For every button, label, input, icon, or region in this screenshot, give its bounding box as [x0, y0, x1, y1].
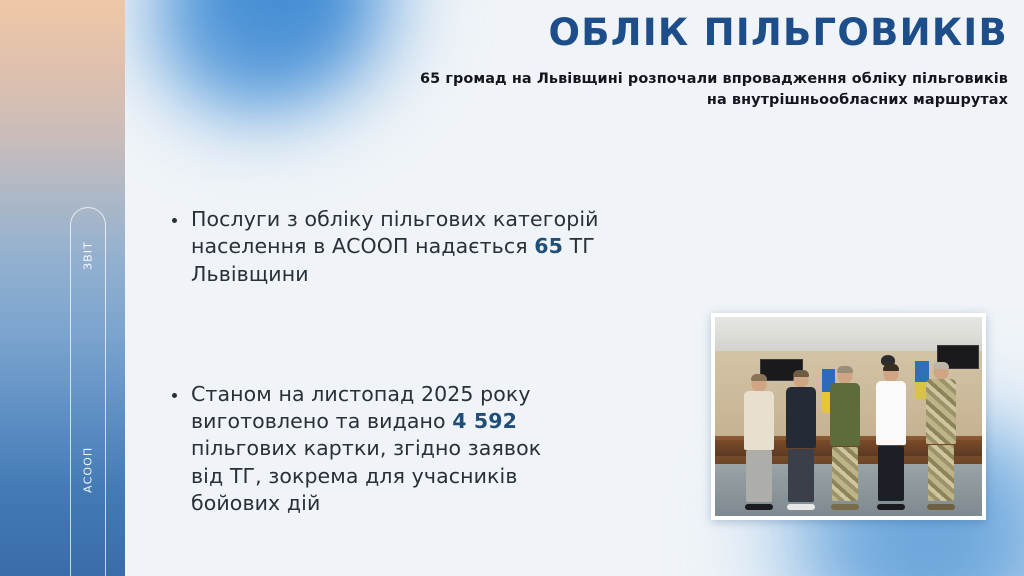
photo-person-5-camouflage	[921, 363, 961, 510]
group-photo	[715, 317, 982, 516]
bullet-cards-highlight: 4 592	[452, 409, 517, 433]
page-title: ОБЛІК ПІЛЬГОВИКІВ	[278, 14, 1008, 53]
subtitle-line-2: на внутрішньообласних маршрутах	[278, 90, 1008, 112]
photo-frame	[711, 313, 986, 520]
photo-person-1	[742, 375, 776, 510]
bullet-services-highlight: 65	[534, 234, 563, 258]
sidebar-label-zvit: ЗВІТ	[70, 224, 106, 288]
page-subtitle: 65 громад на Львівщині розпочали впровад…	[278, 69, 1008, 112]
slide-header: ОБЛІК ПІЛЬГОВИКІВ 65 громад на Львівщині…	[278, 14, 1008, 112]
photo-person-4-white-shirt	[873, 365, 909, 510]
left-gradient-sidebar: ЗВІТ АСООП	[0, 0, 125, 576]
sidebar-label-asoop: АСООП	[70, 432, 106, 508]
bullet-list: Послуги з обліку пільгових категорій нас…	[170, 206, 715, 479]
bullet-cards-text-after: пільгових картки, згідно заявок від ТГ, …	[191, 436, 541, 515]
bullet-cards-issued: Станом на листопад 2025 року виготовлено…	[170, 381, 555, 517]
subtitle-line-1: 65 громад на Львівщині розпочали впровад…	[278, 69, 1008, 91]
slide-root: ЗВІТ АСООП ОБЛІК ПІЛЬГОВИКІВ 65 громад н…	[0, 0, 1024, 576]
bullet-services: Послуги з обліку пільгових категорій нас…	[170, 206, 700, 288]
photo-person-3-military-green	[827, 367, 863, 510]
photo-person-2	[784, 371, 818, 510]
